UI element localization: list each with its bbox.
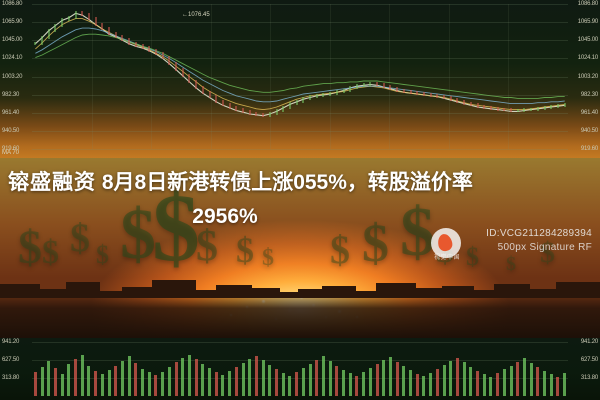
candlestick: [188, 74, 190, 83]
volume-bar: [268, 365, 271, 396]
skyline-block: [494, 284, 530, 298]
axis-tick-label: 627.50: [581, 357, 598, 363]
screenshot-root: 1086.801065.901045.001024.101003.20982.3…: [0, 0, 600, 400]
candlestick: [202, 86, 204, 94]
candlestick: [182, 68, 184, 77]
axis-tick-label: 1003.20: [578, 74, 598, 80]
gridline: [389, 4, 390, 149]
volume-bar: [195, 359, 198, 396]
volume-bar: [114, 366, 117, 396]
candlestick: [262, 113, 264, 117]
axis-tick-label: 919.60: [581, 146, 598, 152]
candlestick: [229, 103, 231, 109]
volume-bar: [516, 362, 519, 396]
candlestick: [349, 86, 351, 92]
axis-tick-label: 1086.80: [2, 1, 22, 7]
candlestick: [316, 94, 318, 99]
candlestick: [81, 11, 83, 16]
volume-bar: [61, 374, 64, 396]
gridline: [270, 4, 271, 149]
candlestick: [383, 83, 385, 88]
skyline-block: [122, 287, 152, 298]
gridline: [151, 4, 152, 149]
candlestick: [530, 108, 532, 112]
candlestick: [162, 52, 164, 59]
candlestick: [423, 92, 425, 96]
volume-bar: [141, 369, 144, 396]
volume-plot-area: [32, 342, 568, 396]
volume-bar: [67, 364, 70, 396]
candlestick: [34, 42, 36, 45]
volume-bar: [288, 376, 291, 396]
volume-bar: [94, 371, 97, 396]
gridline: [330, 4, 331, 149]
candlestick: [450, 96, 452, 101]
candlestick: [503, 108, 505, 112]
dollar-sign-icon: $: [96, 242, 109, 268]
candlestick: [403, 89, 405, 94]
candlestick: [175, 62, 177, 71]
candlestick: [369, 82, 371, 86]
candlestick: [343, 89, 345, 94]
volume-bar: [550, 374, 553, 396]
axis-tick-label: 1024.10: [2, 55, 22, 61]
volume-bar: [148, 372, 151, 396]
volume-bar: [322, 356, 325, 396]
candlestick: [523, 108, 525, 112]
candlestick: [329, 92, 331, 96]
skyline-block: [298, 289, 322, 298]
price-annotation: ←1076.45: [182, 12, 210, 18]
gridline: [508, 4, 509, 149]
candlestick: [75, 11, 77, 18]
volume-bar: [349, 373, 352, 396]
volume-bar: [282, 373, 285, 396]
candlestick: [54, 24, 56, 32]
axis-tick-label: 1065.90: [2, 19, 22, 25]
candlestick: [95, 17, 97, 25]
gridline: [32, 342, 568, 343]
volume-bar: [41, 367, 44, 396]
axis-tick-label: 313.80: [2, 375, 19, 381]
axis-tick-label: 1045.00: [578, 37, 598, 43]
top-stock-chart: 1086.801065.901045.001024.101003.20982.3…: [0, 0, 600, 158]
axis-tick-label: 961.40: [2, 110, 19, 116]
axis-tick-label: 940.50: [581, 128, 598, 134]
volume-bar: [335, 366, 338, 396]
skyline-block: [216, 285, 252, 298]
volume-bar: [456, 358, 459, 396]
candlestick: [242, 108, 244, 113]
gridline: [32, 77, 568, 78]
volume-bar: [74, 359, 77, 396]
candlestick: [88, 13, 90, 20]
candlestick: [61, 18, 63, 26]
volume-bar: [416, 374, 419, 396]
gridline: [211, 4, 212, 149]
axis-tick-label: 941.20: [581, 339, 598, 345]
candlestick: [389, 85, 391, 90]
candlestick: [195, 80, 197, 89]
candlestick: [269, 112, 271, 117]
headline-text-line1: 8月8日新港转债上涨055%，转股溢价率: [102, 171, 473, 194]
series-line-ma-green: [35, 34, 564, 98]
axis-tick-label: 1024.10: [578, 55, 598, 61]
volume-bar: [275, 369, 278, 396]
volume-bar: [242, 363, 245, 396]
volume-bar: [503, 369, 506, 396]
axis-tick-label: 1086.80: [578, 1, 598, 7]
volume-bar: [396, 362, 399, 396]
volume-bar: [235, 367, 238, 396]
volume-bar: [255, 356, 258, 396]
volume-bar: [101, 374, 104, 396]
volume-bar: [161, 372, 164, 396]
volume-bar: [355, 376, 358, 396]
volume-bar: [422, 376, 425, 396]
skyline-block: [474, 290, 494, 298]
candlestick: [356, 84, 358, 89]
gridline: [32, 22, 568, 23]
volume-bar: [128, 356, 131, 396]
dollar-sign-icon: $: [42, 236, 59, 270]
gridline: [92, 4, 93, 149]
candlestick: [209, 91, 211, 98]
candlestick: [282, 106, 284, 112]
skyline-block: [196, 290, 216, 298]
volume-bar: [47, 361, 50, 396]
candlestick: [544, 106, 546, 110]
candlestick: [396, 87, 398, 92]
candlestick: [309, 95, 311, 100]
volume-bar: [543, 371, 546, 396]
candlestick: [168, 56, 170, 64]
candlestick: [135, 42, 137, 48]
volume-bar: [382, 360, 385, 396]
volume-bar: [402, 366, 405, 396]
candlestick: [490, 106, 492, 110]
volume-bar: [563, 373, 566, 396]
dollar-sign-icon: $: [262, 246, 274, 270]
headline-overlay: 镕盛融资 8月8日新港转债上涨055%，转股溢价率 2956%: [0, 166, 600, 234]
volume-bar: [201, 364, 204, 396]
candlestick: [249, 110, 251, 115]
candlestick: [456, 98, 458, 103]
volume-bar: [443, 365, 446, 396]
volume-bar: [262, 360, 265, 396]
skyline-block: [556, 282, 600, 298]
volume-bar: [81, 355, 84, 396]
volume-bar: [108, 370, 111, 396]
candlestick: [550, 105, 552, 109]
gridline: [32, 113, 568, 114]
candlestick: [222, 100, 224, 106]
candlestick: [416, 91, 418, 95]
volume-bar: [87, 366, 90, 396]
volume-bar: [449, 361, 452, 396]
gridline: [449, 4, 450, 149]
foreground-ground: [0, 292, 600, 338]
axis-tick-label: 1065.90: [578, 19, 598, 25]
skyline-block: [322, 286, 356, 298]
volume-bar: [409, 370, 412, 396]
volume-bar: [215, 372, 218, 396]
volume-bar: [295, 372, 298, 396]
volume-bar: [523, 358, 526, 396]
volume-bar: [536, 367, 539, 396]
axis-tick-label: 313.80: [581, 375, 598, 381]
headline-text-line2: 2956%: [0, 200, 592, 234]
skyline-block: [0, 284, 40, 298]
volume-bar: [556, 377, 559, 396]
axis-tick-label: 1045.00: [2, 37, 22, 43]
candlestick: [276, 109, 278, 115]
candlestick: [128, 38, 130, 44]
skyline-block: [40, 289, 66, 298]
skyline-block: [356, 291, 376, 298]
headline-source: 镕盛融资: [8, 171, 96, 194]
candlestick: [108, 27, 110, 35]
gridline: [32, 149, 568, 150]
gridline: [32, 360, 568, 361]
volume-bar: [168, 367, 171, 396]
skyline-block: [416, 288, 442, 298]
candlestick: [510, 108, 512, 112]
candlestick: [148, 46, 150, 52]
axis-tick-label: 941.20: [2, 339, 19, 345]
volume-bar: [134, 363, 137, 396]
candlestick: [463, 100, 465, 105]
volume-bar: [476, 371, 479, 396]
axis-tick-label: 961.40: [581, 110, 598, 116]
candlestick: [155, 49, 157, 55]
volume-bar: [483, 374, 486, 396]
volume-bar: [302, 368, 305, 396]
watermark-signature-label: 500px Signature RF: [498, 242, 592, 253]
volume-bar: [389, 357, 392, 396]
candlestick: [470, 102, 472, 107]
volume-bar: [121, 361, 124, 396]
candlestick: [430, 93, 432, 97]
volume-bar: [329, 361, 332, 396]
axis-tick-label: 940.50: [2, 128, 19, 134]
candlestick: [477, 103, 479, 108]
volume-bar: [175, 362, 178, 396]
candlestick: [101, 23, 103, 30]
volume-bar: [154, 375, 157, 396]
candlestick: [215, 95, 217, 102]
axis-tick-label: 627.50: [2, 357, 19, 363]
volume-bar: [496, 373, 499, 396]
volume-bar: [376, 364, 379, 396]
candlestick: [121, 35, 123, 41]
volume-bar: [342, 370, 345, 396]
candlestick: [296, 100, 298, 106]
gridline: [32, 131, 568, 132]
volume-bar: [369, 368, 372, 396]
candlestick: [410, 90, 412, 94]
watermark-brand-label: 视觉中国: [424, 252, 470, 261]
candlestick: [41, 36, 43, 45]
volume-bar: [436, 369, 439, 396]
volume-bar: [34, 372, 37, 396]
axis-tick-label: 1003.20: [2, 74, 22, 80]
ma-corner-label: MA 70: [2, 150, 19, 156]
skyline-block: [252, 288, 280, 298]
skyline-block: [442, 286, 474, 298]
candlestick: [363, 83, 365, 87]
candlestick: [48, 29, 50, 39]
candlestick: [497, 107, 499, 111]
skyline-block: [152, 280, 196, 298]
gridline: [32, 95, 568, 96]
axis-tick-label: 982.30: [581, 92, 598, 98]
gridline: [32, 378, 568, 379]
volume-bar: [248, 359, 251, 396]
volume-bar: [463, 362, 466, 396]
gridline: [32, 4, 568, 5]
skyline-block: [530, 289, 556, 298]
candlestick: [68, 16, 70, 22]
volume-bar: [530, 363, 533, 396]
candlestick: [115, 32, 117, 38]
skyline-block: [280, 292, 298, 298]
candlestick: [142, 44, 144, 49]
volume-bar: [208, 368, 211, 396]
volume-bar: [54, 368, 57, 396]
candlestick: [302, 97, 304, 103]
skyline-block: [66, 282, 100, 298]
volume-bar: [510, 366, 513, 396]
candlestick: [322, 93, 324, 97]
volume-bar: [429, 373, 432, 396]
axis-tick-label: 982.30: [2, 92, 19, 98]
candlestick: [564, 103, 566, 107]
candlestick: [443, 95, 445, 100]
dollar-sign-icon: $: [330, 230, 350, 270]
skyline-block: [100, 291, 122, 298]
volume-bar: [315, 360, 318, 396]
volume-bar: [228, 371, 231, 396]
dollar-sign-icon: $: [236, 232, 254, 268]
skyline-block: [376, 283, 416, 298]
candlestick: [537, 107, 539, 111]
candlestick: [483, 105, 485, 109]
volume-bar: [188, 355, 191, 396]
volume-bar: [309, 364, 312, 396]
candlestick: [557, 104, 559, 108]
volume-bar: [362, 372, 365, 396]
volume-bar: [221, 375, 224, 396]
candlestick: [336, 90, 338, 95]
top-chart-plot-area: [32, 4, 568, 149]
volume-bar: [469, 367, 472, 396]
volume-bar: [489, 377, 492, 397]
candlestick: [517, 109, 519, 112]
gridline: [32, 40, 568, 41]
candlestick: [289, 102, 291, 108]
gridline: [32, 58, 568, 59]
volume-bar: [181, 358, 184, 396]
candlestick: [376, 82, 378, 86]
bottom-volume-chart: 941.20627.50313.80 941.20627.50313.80: [0, 338, 600, 400]
candlestick: [436, 94, 438, 98]
candlestick: [235, 106, 237, 112]
candlestick: [255, 112, 257, 116]
